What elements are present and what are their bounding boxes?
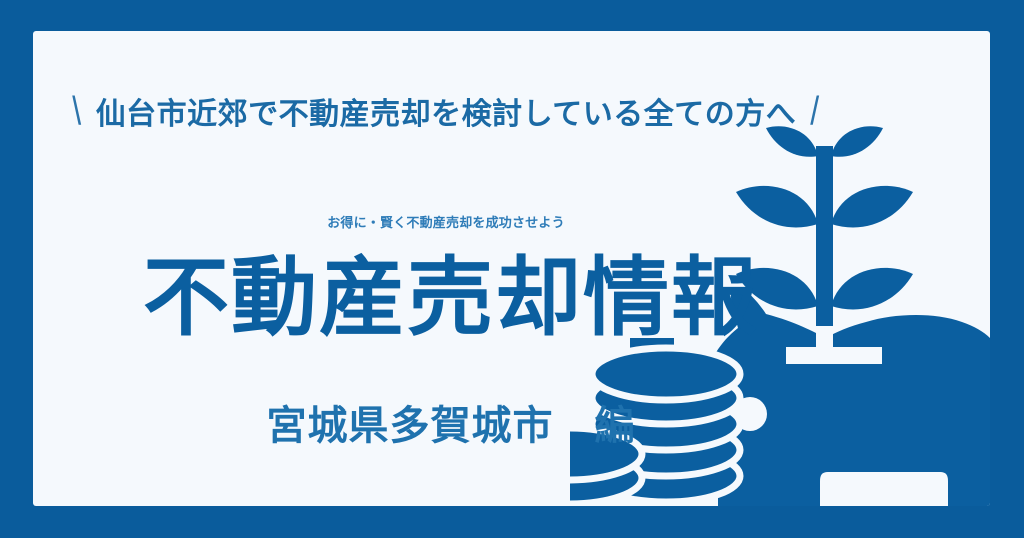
banner-panel: \ 仙台市近郊で不動産売却を検討している全ての方へ / お得に・賢く不動産売却を…	[33, 31, 990, 506]
slash-right-icon: /	[810, 88, 819, 134]
kicker-text: お得に・賢く不動産売却を成功させよう	[51, 212, 841, 231]
banner-frame: \ 仙台市近郊で不動産売却を検討している全ての方へ / お得に・賢く不動産売却を…	[0, 0, 1024, 538]
headline: \ 仙台市近郊で不動産売却を検討している全ての方へ /	[51, 89, 841, 133]
slash-left-icon: \	[72, 88, 81, 134]
page-title: 不動産売却情報	[51, 253, 851, 343]
page-subtitle: 宮城県多賀城市 編	[51, 393, 851, 451]
text-layer: \ 仙台市近郊で不動産売却を検討している全ての方へ / お得に・賢く不動産売却を…	[33, 31, 990, 506]
headline-text: 仙台市近郊で不動産売却を検討している全ての方へ	[96, 89, 797, 133]
